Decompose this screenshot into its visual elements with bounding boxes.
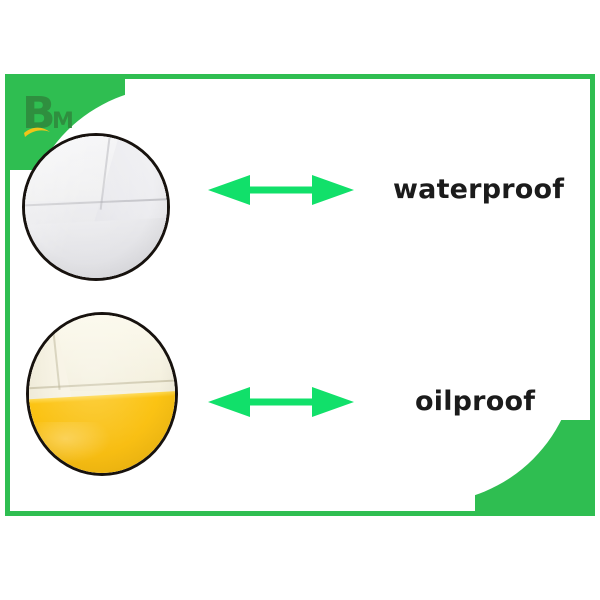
label-waterproof: waterproof (393, 174, 564, 205)
logo-letter-m: M (52, 109, 74, 134)
arrow-head-left-icon (208, 175, 250, 205)
carton-gloss (22, 133, 110, 281)
label-oilproof: oilproof (415, 386, 535, 417)
arrow-shaft (248, 399, 314, 406)
arrow-head-right-icon (312, 387, 354, 417)
double-arrow-oilproof (208, 384, 354, 425)
double-arrow-waterproof (208, 172, 354, 213)
arrow-shaft (248, 187, 314, 194)
frame-corner-bottom-right (475, 420, 595, 516)
oil-sheen (35, 422, 111, 463)
photo-waterproof (22, 133, 170, 281)
arrow-head-right-icon (312, 175, 354, 205)
white-carton-corner-photo (25, 136, 167, 278)
product-feature-card: B M waterproof (0, 0, 600, 600)
bm-logo: B M (22, 88, 100, 144)
oil-in-carton-corner-photo (29, 315, 175, 473)
photo-oilproof (26, 312, 178, 476)
arrow-head-left-icon (208, 387, 250, 417)
